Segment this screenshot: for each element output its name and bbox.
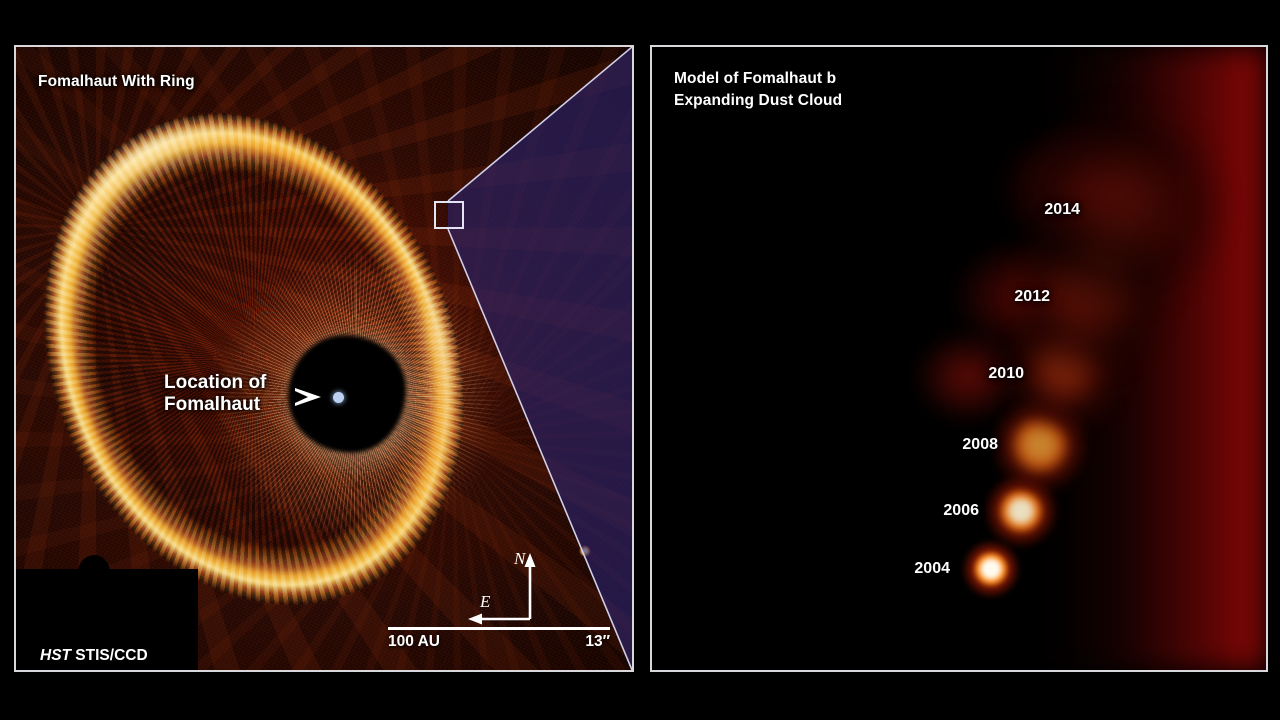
scale-bar-arcsec-label: 13″ — [585, 633, 610, 651]
compass-east-arrowhead — [468, 614, 482, 625]
year-label-2004: 2004 — [914, 560, 950, 578]
compass-east-label: E — [479, 592, 491, 611]
compass-north-label: N — [513, 549, 527, 568]
star-location-label: Location of Fomalhaut — [164, 372, 266, 417]
year-label-2008: 2008 — [962, 436, 998, 454]
year-label-2010: 2010 — [988, 365, 1024, 383]
background-field-star — [579, 545, 591, 557]
instrument-credit: HST STIS/CCD — [40, 647, 148, 665]
compass-north-arrowhead — [525, 553, 536, 567]
year-label-2006: 2006 — [943, 502, 979, 520]
year-label-2014: 2014 — [1044, 201, 1080, 219]
star-position-dot — [333, 392, 344, 403]
credit-instrument: STIS/CCD — [71, 647, 148, 664]
zoom-inset-box — [434, 201, 464, 229]
credit-telescope: HST — [40, 647, 71, 664]
pointer-arrow-notch — [295, 391, 308, 403]
scale-bar: 100 AU 13″ — [388, 627, 610, 651]
right-panel-title: Model of Fomalhaut b Expanding Dust Clou… — [674, 68, 842, 113]
compass-rose: N E — [452, 547, 562, 627]
scale-bar-line — [388, 627, 610, 630]
right-panel-dust-cloud-model: 200420062008201020122014 Model of Fomalh… — [650, 45, 1268, 672]
composite-figure: Location of Fomalhaut HST STIS/CCD N E — [0, 0, 1280, 720]
left-panel-fomalhaut-image: Location of Fomalhaut HST STIS/CCD N E — [14, 45, 634, 672]
scale-bar-au-label: 100 AU — [388, 633, 440, 651]
year-label-2012: 2012 — [1014, 288, 1050, 306]
left-panel-title: Fomalhaut With Ring — [38, 71, 195, 93]
